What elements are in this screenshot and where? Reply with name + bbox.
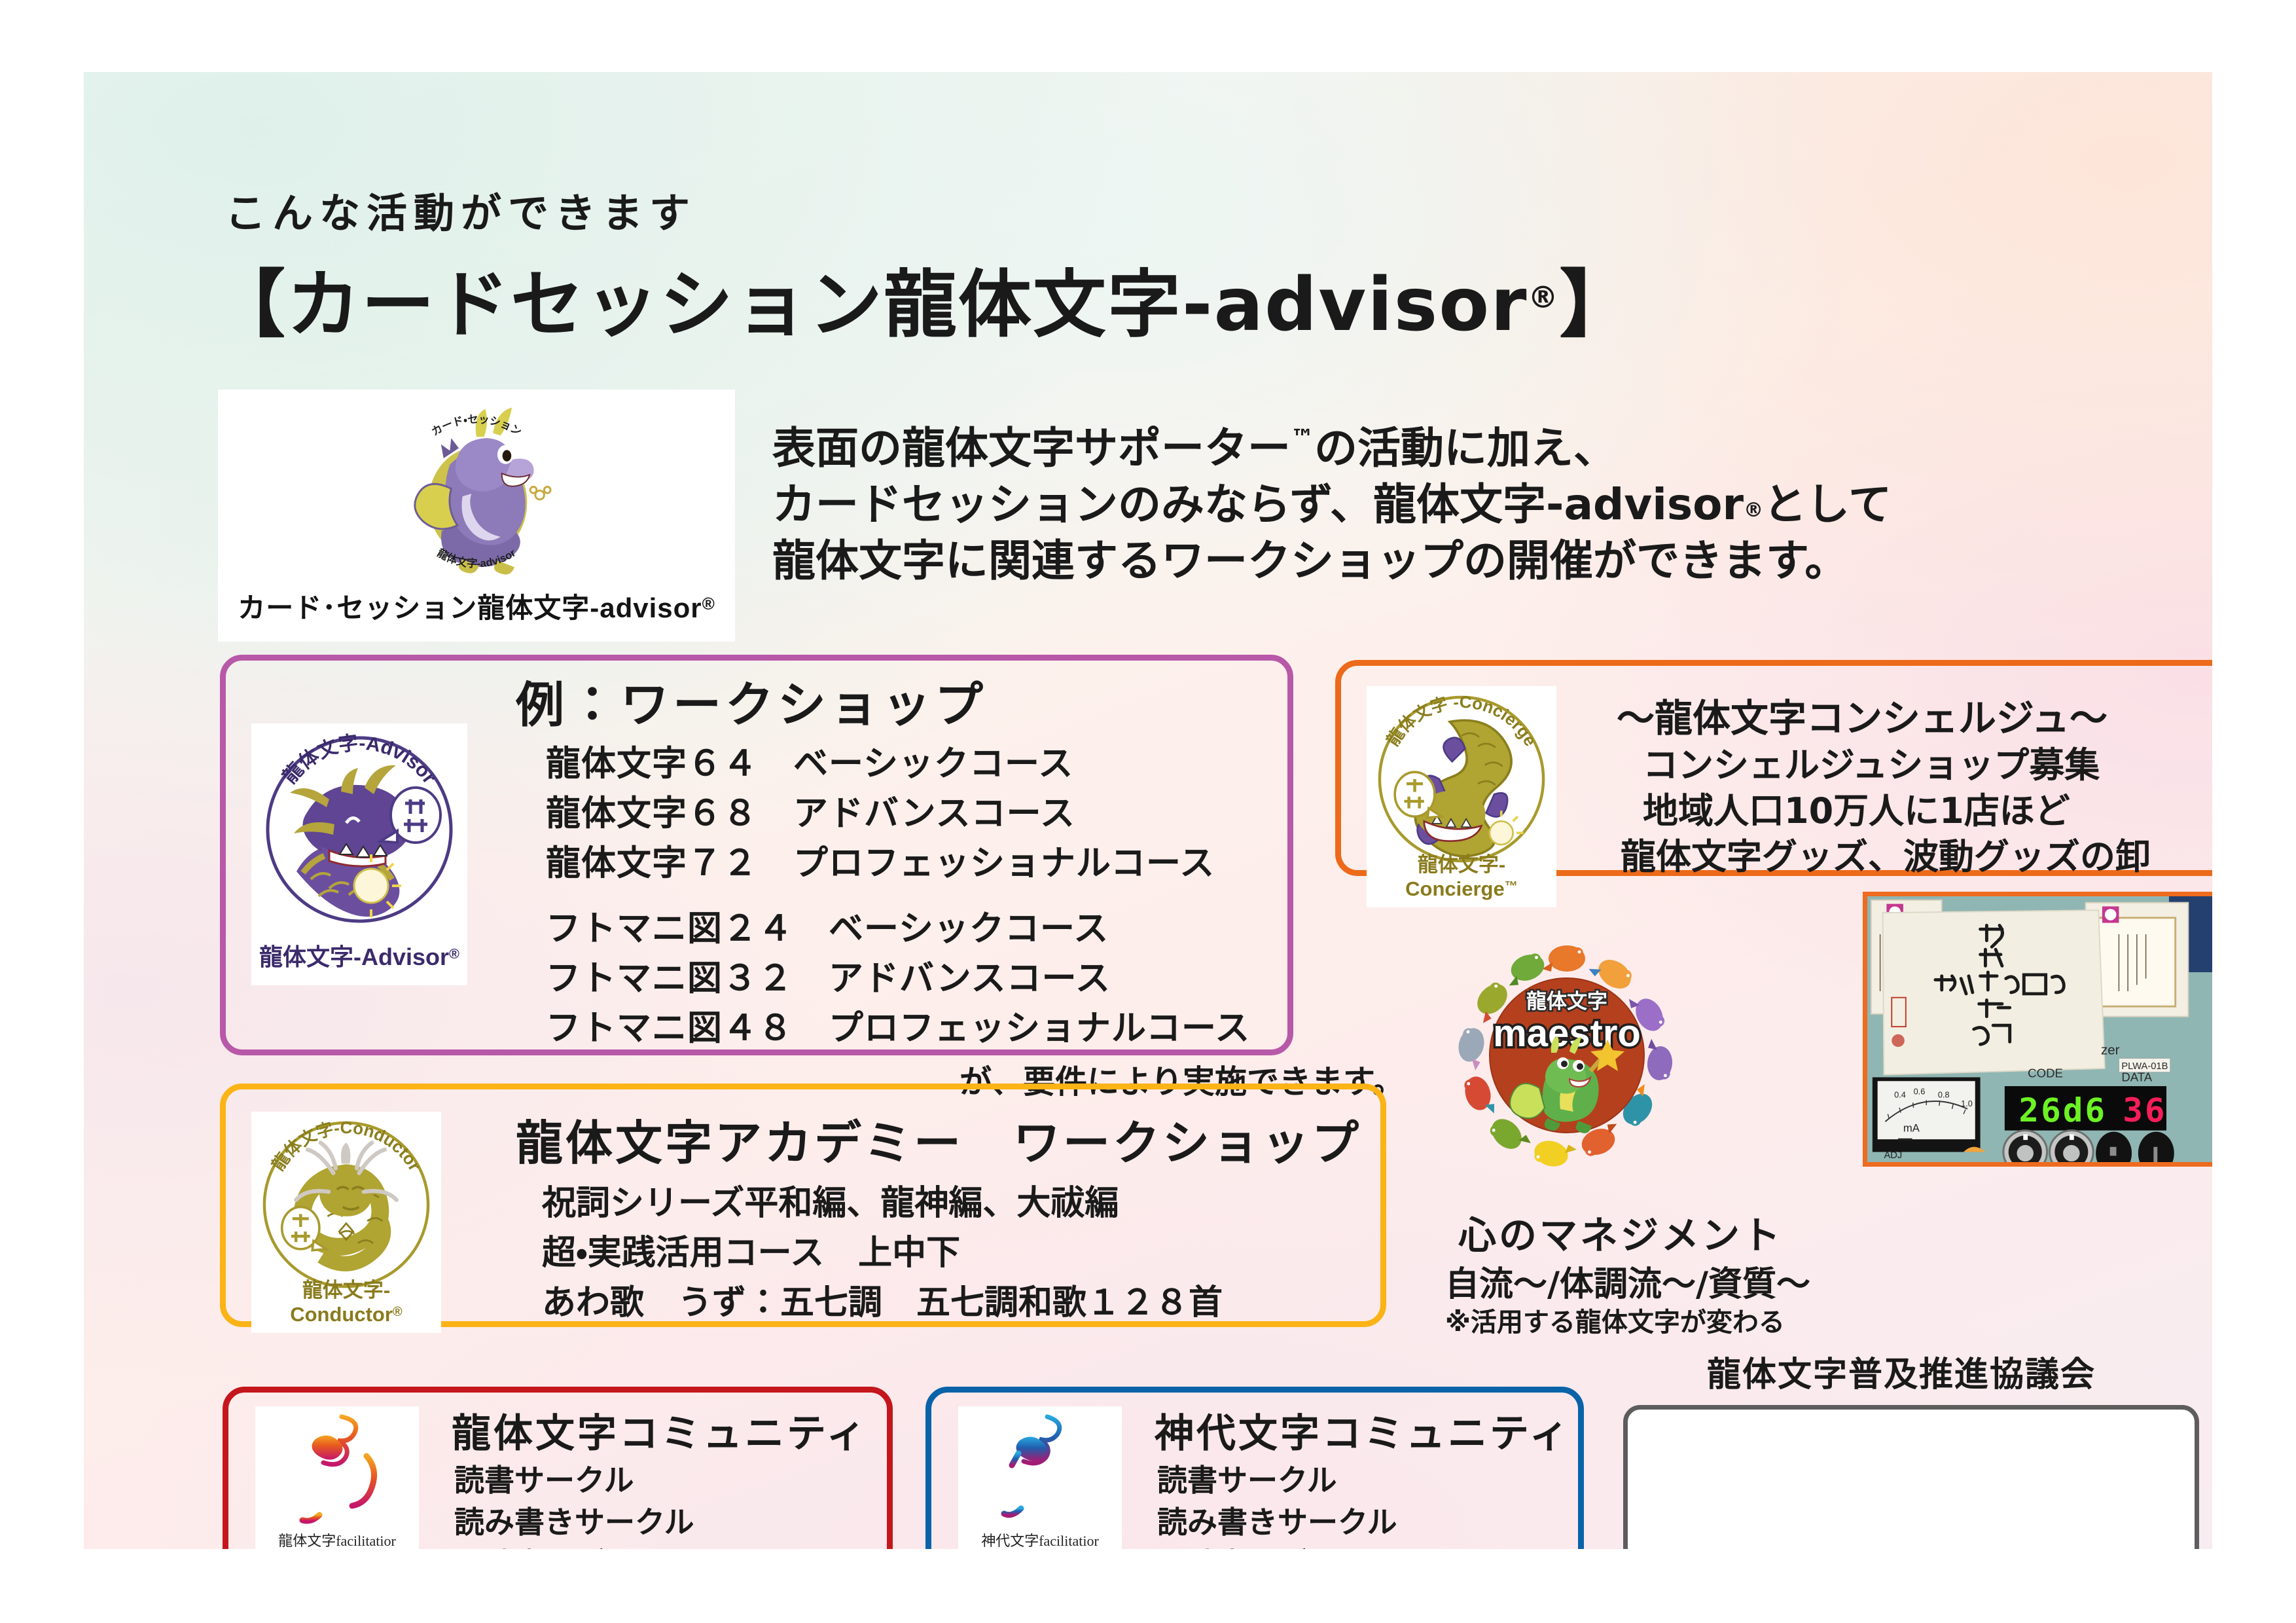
brand-card-caption-registered: ® [702,594,715,613]
workshop-course-line: フトマニ図２４ ベーシックコース [546,911,1109,946]
ryutai-facilitator-logo: 龍体文字facilitatior [255,1406,419,1549]
maestro-sub-line-1: 自流〜/体調流〜/資質〜 [1445,1267,1810,1302]
svg-text:DATA: DATA [2121,1070,2153,1084]
kamiyo-facilitator-logo: 神代文字facilitatior [958,1406,1122,1549]
flyer-page: こんな活動ができます 【カードセッション龍体文字-advisor®】 [84,72,2212,1549]
workshop-course-line: 龍体文字７２ プロフェッショナルコース [546,846,1215,881]
maestro-sub-line-2: ※活用する龍体文字が変わる [1445,1309,1785,1336]
svg-text:CODE: CODE [2028,1067,2063,1080]
intro-line2-b: として [1763,479,1892,530]
academy-line: 超・実践活用コース 上中下 [542,1236,960,1270]
conductor-logo-registered: ® [393,1305,403,1319]
svg-text:龍体文字: 龍体文字 [1526,990,1607,1013]
workshop-course-line: フトマニ図３２ アドバンスコース [546,961,1111,996]
svg-text:0.4: 0.4 [1894,1090,1906,1099]
trademark-icon: ™ [1291,425,1314,452]
academy-heading: 龍体文字アカデミー ワークショップ [516,1120,1361,1167]
brand-card-caption: カード･セッション龍体文字-advisor® [218,586,735,626]
kamiyo-logo-caption: 神代文字facilitatior [958,1529,1122,1549]
kamiyo-community-heading: 神代文字コミュニティ [1155,1414,1571,1453]
advisor-logo-tile: 龍体文字-Advisor 龍体文字-Advisor® [251,723,467,985]
conductor-logo-caption: 龍体文字-Conductor® [251,1273,441,1326]
academy-line: 祝詞シリーズ平和編、龍神編、大祓編 [542,1186,1119,1220]
conductor-logo-tile: 龍体文字-Conductor 龍体文字-Conductor® [251,1112,441,1333]
advisor-logo-registered: ® [449,945,459,962]
brand-card: カード・セッション 龍体文字-advisor カード･セッション龍体文字-adv… [218,390,735,642]
workshop-course-line: フトマニ図４８ プロフェッショナルコース [546,1011,1250,1046]
academy-line: あわ歌 うず：五七調 五七調和歌１２８首 [542,1286,1223,1320]
intro-line1-b: の活動に加え、 [1314,423,1617,473]
concierge-line: コンシェルジュショップ募集 [1643,748,2100,783]
wave-analyzer-photo: 0.4 0.6 0.8 1.0 mA ADJ zer PLWA-01B CODE… [1863,892,2212,1167]
concierge-logo-tile: 龍体文字 -Concierge 龍体文字-Concierge™ [1367,686,1556,907]
maestro-dragon-circle: 龍体文字 maestro [1449,938,1685,1173]
svg-text:zer: zer [2101,1043,2120,1058]
svg-text:mA: mA [1903,1122,1920,1135]
advisor-logo-caption: 龍体文字-Advisor® [251,938,467,972]
svg-text:ADJ: ADJ [1884,1150,1902,1161]
advisor-logo-caption-text: 龍体文字-Advisor [259,943,449,970]
maestro-label: 心のマネジメント [1458,1216,1783,1254]
registered-icon: ® [1744,499,1763,522]
dragon-concierge-seal: 龍体文字 -Concierge [1374,691,1549,867]
page-kicker: こんな活動ができます [225,193,696,234]
page-title: 【カードセッション龍体文字-advisor®】 [212,268,1634,342]
concierge-headline: 〜龍体文字コンシェルジュ〜 [1617,699,2108,737]
workshop-heading: 例：ワークショップ [516,681,987,729]
concierge-line: 地域人口10万人に1店ほど [1643,793,2070,829]
ryutai-dragon-glyph [268,1410,406,1525]
svg-text:0.6: 0.6 [1914,1087,1926,1097]
association-blank-box [1623,1405,2199,1549]
concierge-logo-caption-text: 龍体文字-Concierge [1405,853,1505,900]
kamiyo-community-line: 読み書きサークル [1157,1507,1397,1537]
intro-line3: 龍体文字に関連するワークショップの開催ができます。 [772,536,1848,586]
ryutai-community-heading: 龍体文字コミュニティ [452,1414,868,1453]
dragon-conductor-seal: 龍体文字-Conductor [259,1117,434,1292]
conductor-logo-caption-text: 龍体文字-Conductor [290,1279,393,1326]
intro-line2-a: カードセッションのみならず、龍体文字-advisor [772,479,1744,530]
concierge-line: 龍体文字グッズ、波動グッズの卸 [1621,839,2151,875]
svg-text:0.8: 0.8 [1938,1090,1950,1099]
svg-text:maestro: maestro [1493,1012,1641,1055]
ryutai-community-line: 読み書きサークル [454,1507,694,1537]
intro-paragraph: 表面の龍体文字サポーター™の活動に加え、カードセッションのみならず、龍体文字-a… [772,420,1892,589]
concierge-logo-caption: 龍体文字-Concierge™ [1367,848,1556,901]
kamiyo-community-line: 読書サークル [1157,1465,1337,1495]
dragon-advisor-emblem: カード・セッション 龍体文字-advisor [382,401,571,591]
brand-card-caption-text: カード･セッション龍体文字-advisor [238,593,702,623]
page-title-registered: ® [1528,280,1559,315]
page-title-prefix: 【カードセッション龍体文字-advisor [212,263,1528,348]
concierge-logo-trademark: ™ [1505,879,1518,894]
svg-text:36: 36 [2123,1091,2166,1129]
workshop-course-line: 龍体文字６８ アドバンスコース [546,796,1075,831]
kamiyo-dragon-glyph [971,1410,1109,1525]
workshop-course-line: 龍体文字６４ ベーシックコース [546,746,1073,781]
svg-text:1.0: 1.0 [1961,1099,1973,1108]
page-title-suffix: 】 [1559,263,1634,348]
svg-text:26d6: 26d6 [2018,1091,2107,1129]
ryutai-logo-caption: 龍体文字facilitatior [255,1529,419,1549]
ryutai-community-line: 読書サークル [454,1465,634,1495]
intro-line1-a: 表面の龍体文字サポーター [772,423,1291,473]
association-title: 龍体文字普及推進協議会 [1707,1358,2096,1392]
dragon-advisor-seal: 龍体文字-Advisor [261,731,457,928]
